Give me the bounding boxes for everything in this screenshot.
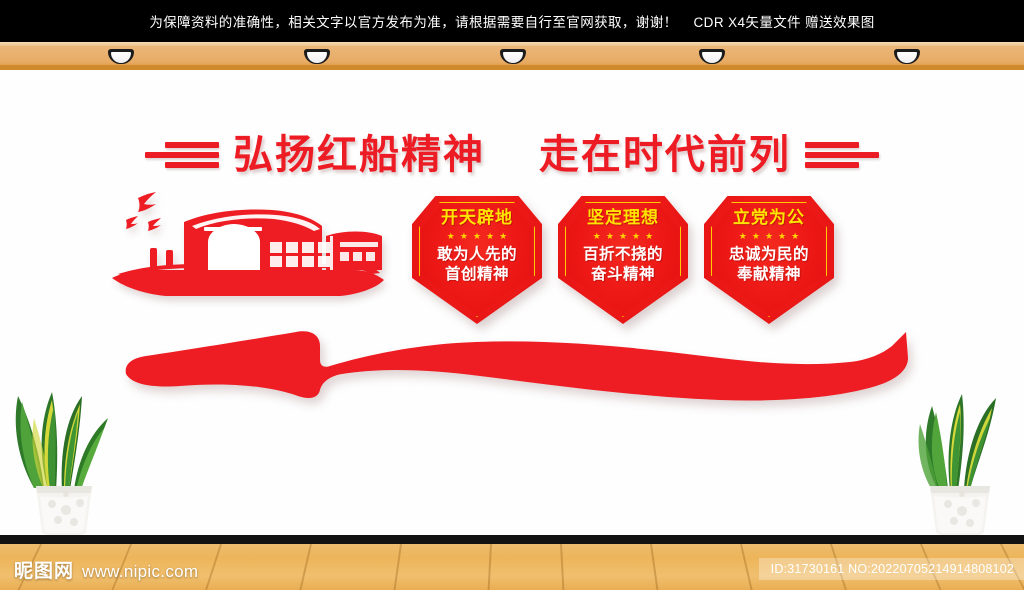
badge-heading: 开天辟地 [441,209,513,229]
plant-pot [36,486,92,535]
title-phrase-1: 弘扬红船精神 [233,132,485,178]
star-icon: ★ [739,232,747,241]
dash-bar [145,152,219,158]
badge-stars: ★★★★★ [447,232,507,241]
star-icon: ★ [645,232,653,241]
badge-stars: ★★★★★ [739,232,799,241]
disclaimer-bar: 为保障资料的准确性，相关文字以官方发布为准，请根据需要自行至官网获取，谢谢！ C… [0,0,1024,42]
plant-leaves [919,394,997,490]
lamp-glass-icon [307,52,327,63]
disclaimer-text: 为保障资料的准确性，相关文字以官方发布为准，请根据需要自行至官网获取，谢谢！ [149,11,677,31]
star-icon: ★ [593,232,601,241]
badge-content: 立党为公 ★★★★★ 忠诚为民的 奉献精神 [704,196,834,324]
plant-leaves [16,392,108,490]
badge-line-1: 忠诚为民的 [729,244,809,264]
ceiling-spotlight-5 [894,49,920,64]
asset-id-badge: ID:31730161 NO:20220705214914808102 [759,558,1024,580]
badge-content: 开天辟地 ★★★★★ 敢为人先的 首创精神 [412,196,542,324]
badge-content: 坚定理想 ★★★★★ 百折不挠的 奋斗精神 [558,196,688,324]
slogan-badge-2[interactable]: 坚定理想 ★★★★★ 百折不挠的 奋斗精神 [558,196,688,324]
slogan-badge-1[interactable]: 开天辟地 ★★★★★ 敢为人先的 首创精神 [412,196,542,324]
red-boat-illustration [104,186,404,318]
ceiling-strip [0,42,1024,70]
star-icon: ★ [499,232,507,241]
ceiling-spotlight-1 [108,49,134,64]
star-icon: ★ [606,232,614,241]
star-icon: ★ [791,232,799,241]
star-icon: ★ [752,232,760,241]
site-logo: 昵图网 [14,556,74,583]
flying-birds-illustration [126,192,161,231]
headline-row: 弘扬红船精神 走在时代前列 [0,129,1024,181]
site-url: www.nipic.com [82,562,198,582]
ceiling-spotlight-3 [500,49,526,64]
ceiling-spotlight-2 [304,49,330,64]
badge-line-2: 首创精神 [445,264,509,284]
ceiling-spotlight-4 [699,49,725,64]
badge-heading: 立党为公 [733,209,805,229]
star-icon: ★ [473,232,481,241]
star-icon: ★ [447,232,455,241]
lamp-glass-icon [897,52,917,63]
dash-bar [805,152,879,158]
title-phrase-2: 走在时代前列 [539,132,791,178]
page-title: 弘扬红船精神 走在时代前列 [233,135,791,175]
potted-snake-plant-left [4,390,124,535]
floor-baseboard [0,535,1024,544]
dash-bar [805,162,859,168]
site-watermark: 昵图网 www.nipic.com [14,556,198,583]
badge-line-1: 百折不挠的 [583,244,663,264]
lamp-glass-icon [702,52,722,63]
title-dashes-left [145,142,219,168]
star-icon: ★ [460,232,468,241]
badge-heading: 坚定理想 [587,209,659,229]
lamp-glass-icon [503,52,523,63]
format-note-text: CDR X4矢量文件 赠送效果图 [694,11,875,31]
poster-canvas: 为保障资料的准确性，相关文字以官方发布为准，请根据需要自行至官网获取，谢谢！ C… [0,0,1024,590]
red-ribbon-illustration [120,312,920,404]
lamp-glass-icon [111,52,131,63]
badge-line-2: 奉献精神 [737,264,801,284]
star-icon: ★ [632,232,640,241]
dash-bar [805,142,859,148]
badge-stars: ★★★★★ [593,232,653,241]
star-icon: ★ [486,232,494,241]
dash-bar [165,162,219,168]
slogan-badge-group: 开天辟地 ★★★★★ 敢为人先的 首创精神 坚定理想 ★★★★★ 百折不挠的 奋… [412,196,834,328]
badge-line-1: 敢为人先的 [437,244,517,264]
slogan-badge-3[interactable]: 立党为公 ★★★★★ 忠诚为民的 奉献精神 [704,196,834,324]
title-dashes-right [805,142,879,168]
star-icon: ★ [778,232,786,241]
star-icon: ★ [619,232,627,241]
star-icon: ★ [765,232,773,241]
dash-bar [165,142,219,148]
badge-line-2: 奋斗精神 [591,264,655,284]
plant-pot [930,486,990,535]
potted-snake-plant-right [904,390,1016,535]
